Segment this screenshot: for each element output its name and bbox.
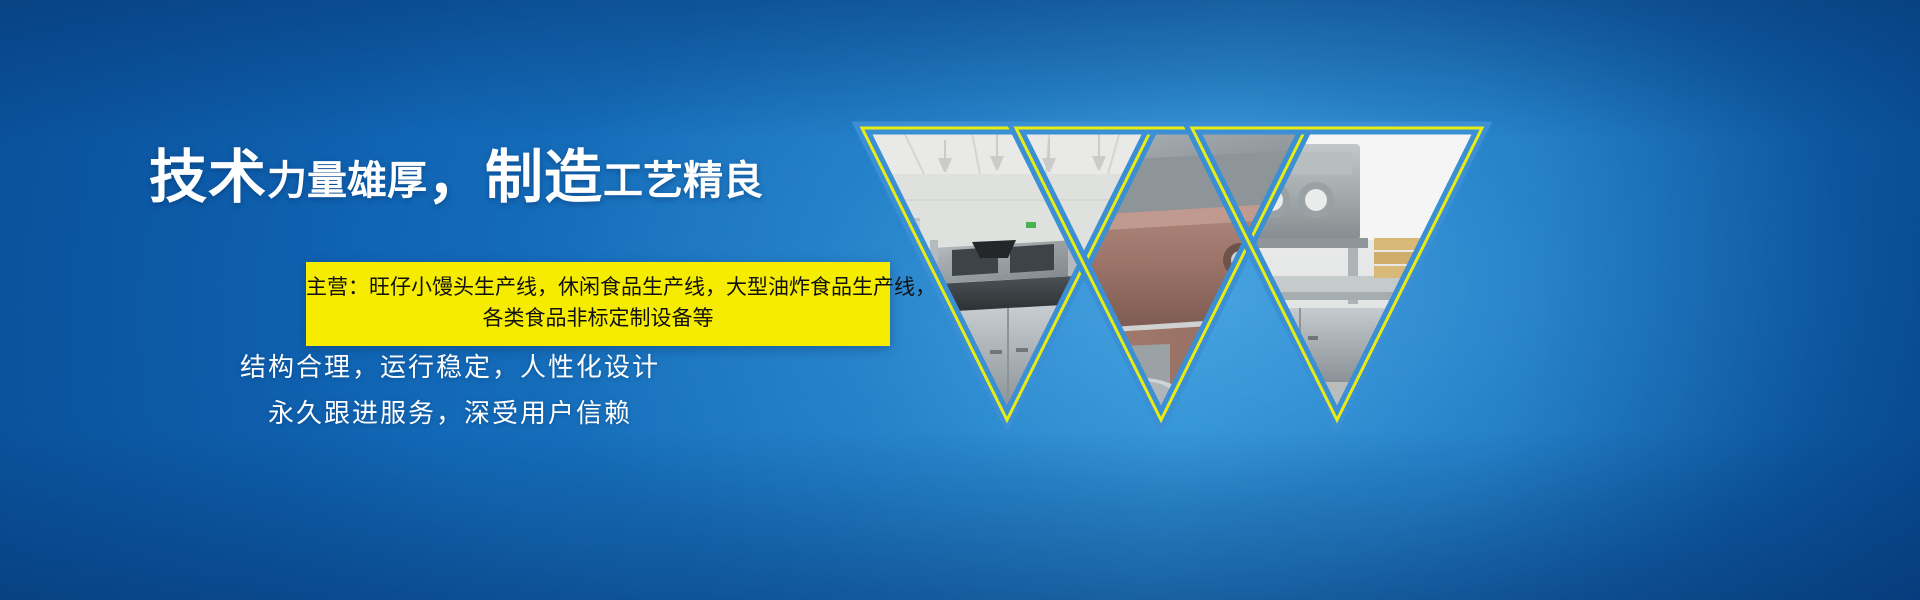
page-title: 技术力量雄厚，制造工艺精良 [0, 148, 900, 206]
subtitle-line-1: 结构合理，运行稳定，人性化设计 [0, 344, 900, 390]
highlight-box: 主营：旺仔小馒头生产线，休闲食品生产线，大型油炸食品生产线， 各类食品非标定制设… [306, 262, 890, 346]
headline-block: 技术力量雄厚，制造工艺精良 [0, 148, 900, 206]
subtitle-line-2: 永久跟进服务，深受用户信赖 [0, 390, 900, 436]
headline-segment-5: 工艺精良 [603, 158, 763, 204]
subtitle-block: 结构合理，运行稳定，人性化设计 永久跟进服务，深受用户信赖 [0, 344, 900, 436]
promo-banner: 技术力量雄厚，制造工艺精良 主营：旺仔小馒头生产线，休闲食品生产线，大型油炸食品… [0, 0, 1920, 600]
highlight-line-2: 各类食品非标定制设备等 [306, 303, 890, 334]
headline-comma: ， [427, 143, 485, 211]
highlight-line-1: 主营：旺仔小馒头生产线，休闲食品生产线，大型油炸食品生产线， [306, 272, 890, 303]
headline-segment-2: 力量雄厚 [267, 158, 427, 204]
machinery-photo-collage [840, 100, 1540, 430]
headline-segment-1: 技术 [149, 143, 267, 211]
headline-segment-4: 制造 [485, 143, 603, 211]
